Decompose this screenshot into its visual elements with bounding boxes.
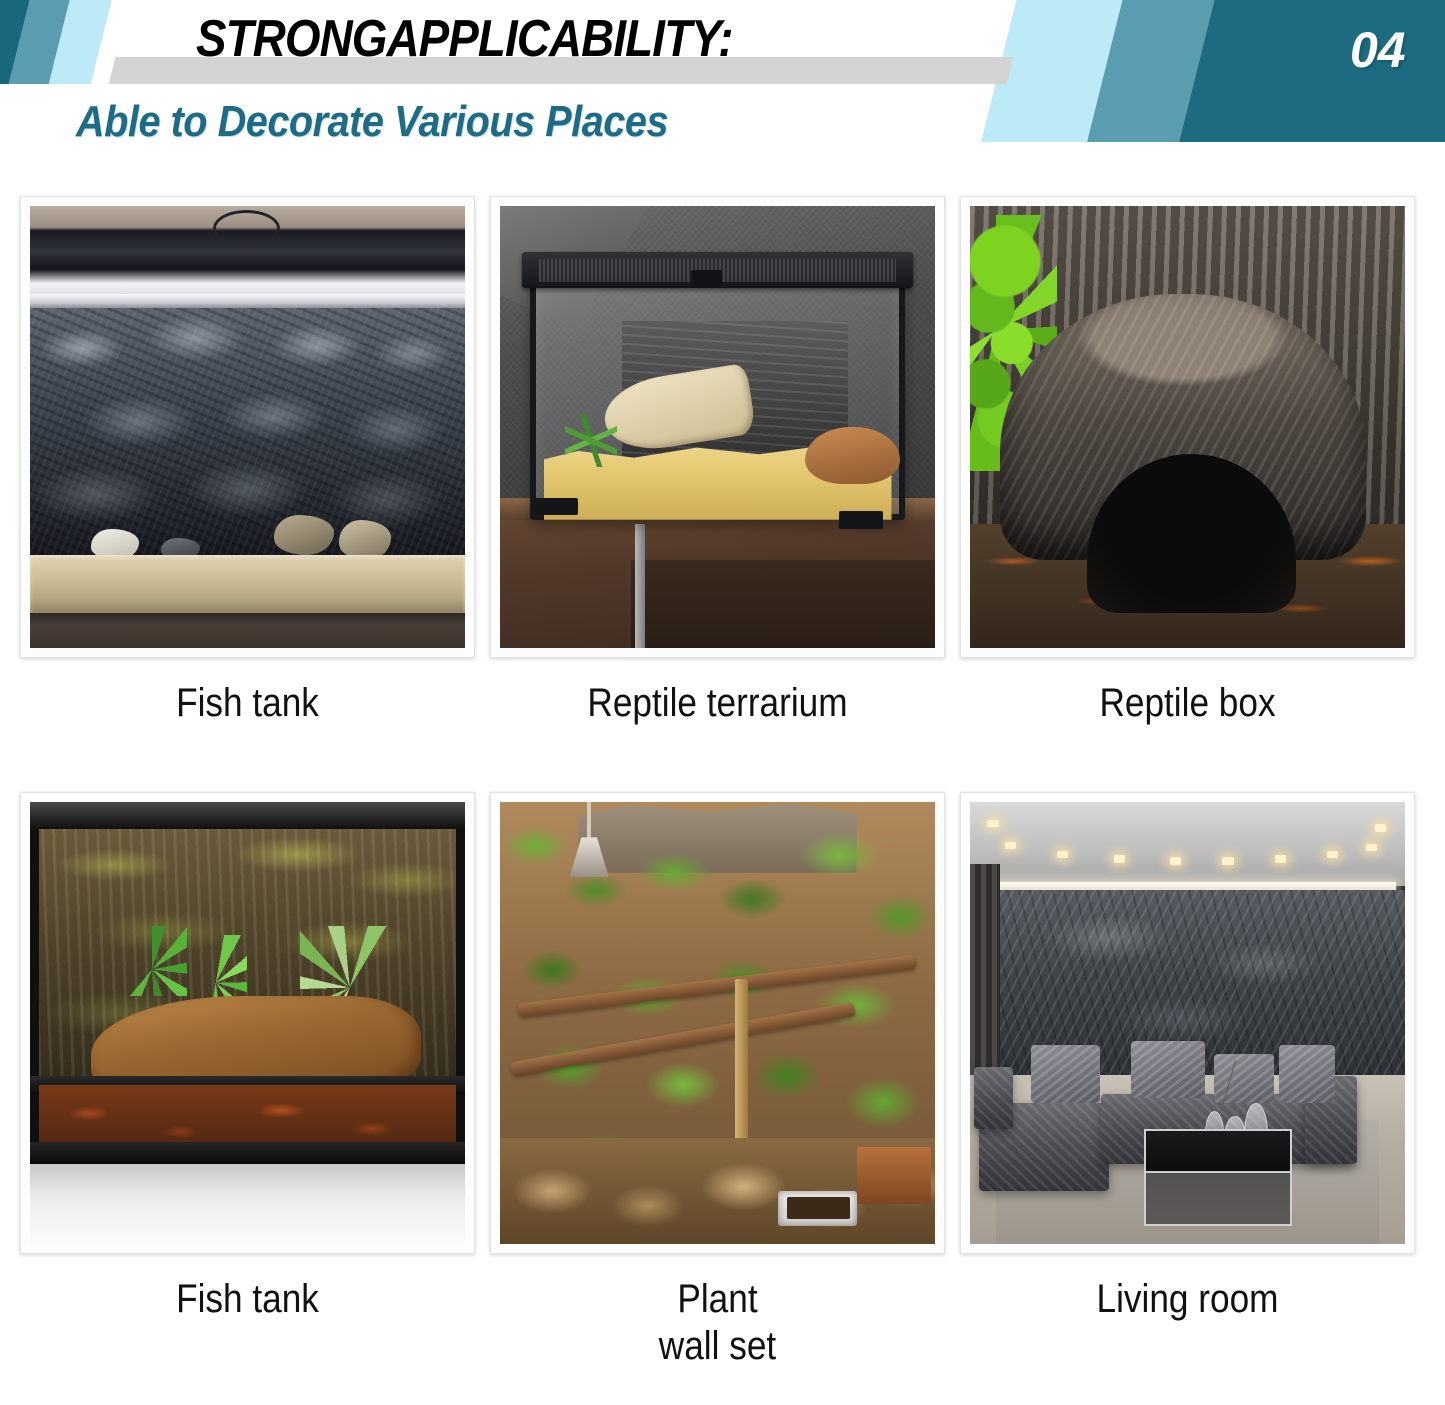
- photo-frame: [960, 196, 1415, 658]
- aquarium-cabinet-base: [30, 613, 465, 648]
- gallery-cell-fish-tank-2[interactable]: Fish tank: [20, 792, 475, 1323]
- ceiling-cove-light: [979, 882, 1397, 889]
- coffee-table-frame: [1144, 1173, 1292, 1226]
- photo-frame: [20, 196, 475, 658]
- ceiling-light-10: [1375, 824, 1386, 832]
- header-banner: STRONGAPPLICABILITY: Able to Decorate Va…: [0, 0, 1445, 172]
- caption-line: Reptile box: [987, 680, 1387, 727]
- caption-line: Living room: [987, 1276, 1387, 1323]
- cell-caption: Reptile box: [987, 680, 1387, 727]
- photo-rock-cave-hide: [970, 206, 1405, 648]
- terrarium2-bottom-rail: [30, 1142, 465, 1164]
- terrarium-water-bowl: [805, 427, 901, 484]
- photo-frame: [960, 792, 1415, 1254]
- photo-frame: [20, 792, 475, 1254]
- terrarium-foot-left: [535, 498, 579, 516]
- aquarium-rock-background: [30, 308, 465, 560]
- terrarium-foot-right: [839, 511, 883, 529]
- caption-line: Fish tank: [47, 1276, 447, 1323]
- ceiling-light-9: [987, 820, 998, 828]
- photo-fish-tank-aquarium: [30, 206, 465, 648]
- gallery-row-2: Fish tank: [0, 792, 1445, 1405]
- caption-line: Fish tank: [47, 680, 447, 727]
- terrarium-green-plant: [565, 414, 617, 467]
- plantwall-bamboo-post: [735, 979, 748, 1147]
- sofa-cushion-4: [1279, 1045, 1336, 1102]
- caption-line: wall set: [517, 1323, 917, 1370]
- plantwall-planter-box: [857, 1147, 931, 1204]
- ceiling-light-5: [1222, 857, 1233, 865]
- slide-number-badge: 04: [1350, 22, 1406, 78]
- ceiling-light-7: [1327, 851, 1338, 859]
- caption-line: Plant: [517, 1276, 917, 1323]
- aquarium-light-bar: [30, 294, 465, 307]
- sofa-cushion-1: [1031, 1045, 1101, 1102]
- ceiling-light-6: [1275, 855, 1286, 863]
- cell-caption: Plant wall set: [517, 1276, 917, 1370]
- photo-stone-wall-living-room: [970, 802, 1405, 1244]
- ceiling-light-2: [1057, 851, 1068, 859]
- gallery-cell-plant-wall-set[interactable]: Plant wall set: [490, 792, 945, 1370]
- cell-caption: Living room: [987, 1276, 1387, 1323]
- caption-line: Reptile terrarium: [517, 680, 917, 727]
- gallery-cell-fish-tank-1[interactable]: Fish tank: [20, 196, 475, 727]
- ceiling-light-4: [1170, 857, 1181, 865]
- cell-caption: Fish tank: [47, 1276, 447, 1323]
- page-title: STRONGAPPLICABILITY:: [196, 8, 918, 70]
- terrarium2-plant-right: [300, 926, 413, 1006]
- coffee-table-top: [1144, 1129, 1292, 1173]
- aquarium-sand-substrate: [30, 555, 465, 612]
- terrarium-desk-leg: [635, 524, 645, 648]
- aquarium-cable: [213, 210, 280, 247]
- cell-caption: Reptile terrarium: [517, 680, 917, 727]
- photo-frame: [490, 792, 945, 1254]
- cell-caption: Fish tank: [47, 680, 447, 727]
- sofa-cushion-3: [1214, 1054, 1275, 1103]
- livingroom-ceiling: [970, 802, 1405, 886]
- photo-moss-rock-terrarium: [30, 802, 465, 1244]
- photo-jungle-plant-wall: [500, 802, 935, 1244]
- plantwall-tray-soil: [787, 1197, 850, 1219]
- terrarium2-plant-center: [187, 935, 248, 1006]
- ceiling-light-3: [1114, 855, 1125, 863]
- window-curtain: [970, 864, 1000, 1094]
- gallery-cell-reptile-box[interactable]: Reptile box: [960, 196, 1415, 727]
- gallery-grid: Fish tank: [0, 172, 1445, 1405]
- aquarium-ornament-shell: [339, 520, 391, 560]
- ceiling-light-1: [1005, 842, 1016, 850]
- terrarium-desk-panel: [631, 560, 936, 648]
- ceiling-light-8: [1366, 844, 1377, 852]
- photo-frame: [490, 196, 945, 658]
- plantwall-lamp-cord: [587, 802, 591, 842]
- sofa-cushion-2: [1131, 1041, 1205, 1098]
- photo-glass-terrarium-skull: [500, 206, 935, 648]
- terrarium2-top-rail: [30, 802, 465, 829]
- gallery-cell-living-room[interactable]: Living room: [960, 792, 1415, 1323]
- terrarium2-plant-left: [117, 926, 187, 997]
- terrarium2-reflection: [30, 1164, 465, 1244]
- sofa-armrest-left: [974, 1067, 1013, 1129]
- gallery-cell-reptile-terrarium[interactable]: Reptile terrarium: [490, 196, 945, 727]
- page-subtitle: Able to Decorate Various Places: [76, 96, 886, 148]
- terrarium-lid-knob: [691, 270, 721, 288]
- gallery-row-1: Fish tank: [0, 196, 1445, 776]
